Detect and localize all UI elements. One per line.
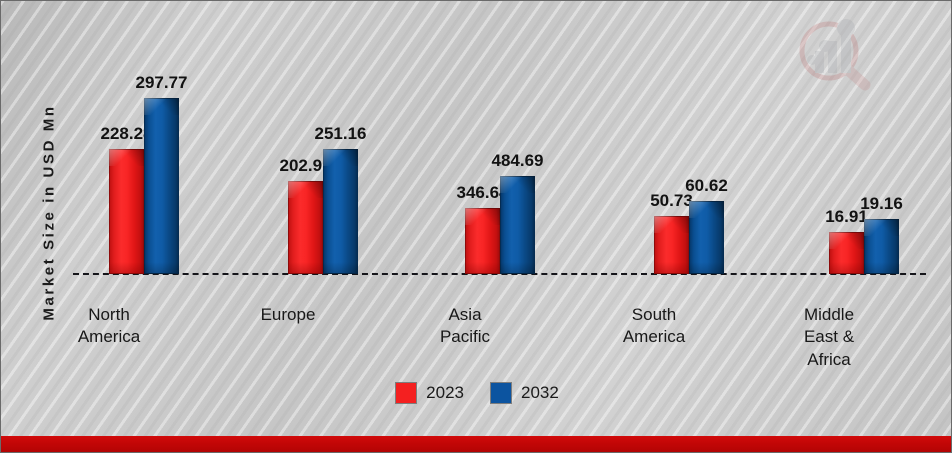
footer-band xyxy=(1,436,951,452)
bar-bevel-top xyxy=(288,181,323,198)
bar-face xyxy=(144,98,179,274)
category-label-south-america: South America xyxy=(623,304,685,349)
bar-bevel-bottom xyxy=(288,262,323,274)
legend-label-2032: 2032 xyxy=(521,383,559,403)
bar-2032-europe[interactable]: 251.16 xyxy=(323,149,358,274)
bar-bevel-bottom xyxy=(829,262,864,274)
bar-2023-asia-pacific[interactable]: 346.64 xyxy=(465,208,500,274)
bar-bevel-bottom xyxy=(109,262,144,274)
bar-bevel-top xyxy=(864,219,899,236)
chart-legend: 2023 2032 xyxy=(1,382,952,404)
bar-bevel-bottom xyxy=(654,262,689,274)
bar-bevel-top xyxy=(689,201,724,218)
category-label-middle-east-africa: Middle East & Africa xyxy=(804,304,854,371)
legend-item-2023[interactable]: 2023 xyxy=(395,382,464,404)
bar-bevel-top xyxy=(654,216,689,233)
bar-value-label: 251.16 xyxy=(315,124,367,144)
bar-bevel-bottom xyxy=(500,262,535,274)
bar-value-label: 19.16 xyxy=(860,194,903,214)
bar-2023-middle-east-africa[interactable]: 16.91 xyxy=(829,232,864,274)
bar-value-label: 60.62 xyxy=(685,176,728,196)
bar-bevel-top xyxy=(829,232,864,249)
category-label-asia-pacific: Asia Pacific xyxy=(440,304,490,349)
legend-item-2032[interactable]: 2032 xyxy=(490,382,559,404)
legend-label-2023: 2023 xyxy=(426,383,464,403)
bar-value-label: 297.77 xyxy=(136,73,188,93)
bar-bevel-bottom xyxy=(689,262,724,274)
legend-swatch-2023-icon xyxy=(395,382,417,404)
bar-2032-asia-pacific[interactable]: 484.69 xyxy=(500,176,535,274)
bar-2023-europe[interactable]: 202.91 xyxy=(288,181,323,274)
bar-2032-south-america[interactable]: 60.62 xyxy=(689,201,724,274)
legend-swatch-2032-icon xyxy=(490,382,512,404)
bar-face xyxy=(323,149,358,274)
bar-bevel-top xyxy=(465,208,500,225)
bar-2032-middle-east-africa[interactable]: 19.16 xyxy=(864,219,899,274)
plot-area: Market Size in USD Mn 228.28 297.77 xyxy=(1,1,952,438)
bar-bevel-bottom xyxy=(465,262,500,274)
bar-2023-north-america[interactable]: 228.28 xyxy=(109,149,144,274)
bar-bevel-top xyxy=(109,149,144,166)
category-label-europe: Europe xyxy=(261,304,316,326)
bar-value-label: 484.69 xyxy=(492,151,544,171)
bar-bevel-top xyxy=(323,149,358,166)
magnifier-bar-chart-watermark-icon xyxy=(791,15,877,91)
bar-2032-north-america[interactable]: 297.77 xyxy=(144,98,179,274)
y-axis-title: Market Size in USD Mn xyxy=(41,73,58,353)
bar-bevel-top xyxy=(144,98,179,115)
bar-bevel-bottom xyxy=(323,262,358,274)
chart-figure: Market Size in USD Mn 228.28 297.77 xyxy=(0,0,952,453)
bar-bevel-bottom xyxy=(864,262,899,274)
bar-bevel-top xyxy=(500,176,535,193)
bar-2023-south-america[interactable]: 50.73 xyxy=(654,216,689,274)
bar-bevel-bottom xyxy=(144,262,179,274)
category-label-north-america: North America xyxy=(78,304,140,349)
bar-face xyxy=(109,149,144,274)
